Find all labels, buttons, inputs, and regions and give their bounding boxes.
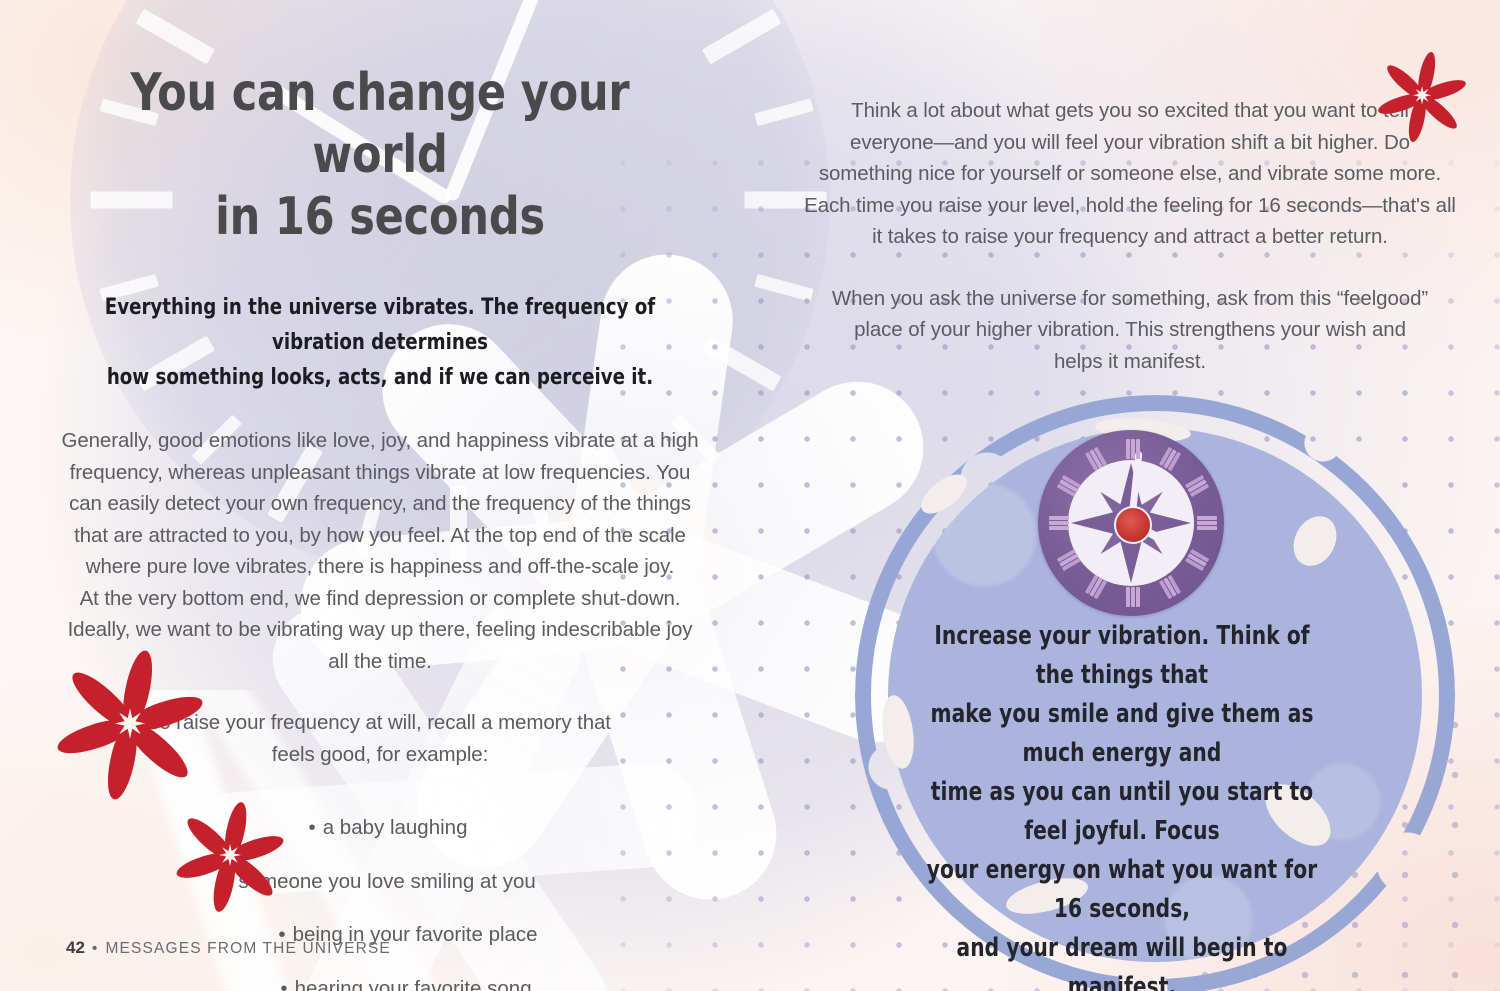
- body-line: place of your higher vibration. This str…: [800, 314, 1460, 346]
- memory-examples-list: •a baby laughing •someone you love smili…: [60, 812, 700, 991]
- body-line: When you ask the universe for something,…: [800, 283, 1460, 315]
- medallion-roman-numeral: [1049, 516, 1069, 520]
- page-number: 42: [66, 938, 85, 957]
- medallion-roman-numeral: [1136, 439, 1140, 459]
- medallion-roman-numeral: [1197, 526, 1217, 530]
- bullet-marker-icon: •: [280, 977, 287, 991]
- list-item: •someone you love smiling at you: [60, 866, 700, 898]
- red-flower-left-large-icon: ✷: [60, 655, 200, 795]
- lead-line-1: Everything in the universe vibrates. The…: [92, 290, 668, 360]
- lead-line-2: how something looks, acts, and if we can…: [92, 360, 668, 395]
- callout-line: Increase your vibration. Think of the th…: [919, 617, 1326, 695]
- watermark-clock-tick: [702, 9, 782, 65]
- list-item-label: someone you love smiling at you: [238, 870, 535, 893]
- body-line: can easily detect your own frequency, an…: [60, 488, 700, 520]
- body-line: Each time you raise your level, hold the…: [800, 190, 1460, 222]
- medallion-roman-numeral: [1197, 521, 1217, 525]
- body-line: At the very bottom end, we find depressi…: [60, 583, 700, 615]
- body-line: it takes to raise your frequency and att…: [800, 221, 1460, 253]
- body-line: Generally, good emotions like love, joy,…: [60, 425, 700, 457]
- right-page-column: Think a lot about what gets you so excit…: [800, 95, 1460, 377]
- list-item-label: a baby laughing: [323, 816, 468, 839]
- book-page-spread: You can change your world in 16 seconds …: [0, 0, 1500, 991]
- body-line: that are attracted to you, by how you fe…: [60, 520, 700, 552]
- body-line: Think a lot about what gets you so excit…: [800, 95, 1460, 127]
- medallion-roman-numeral: [1131, 587, 1135, 607]
- medallion-roman-numeral: [1126, 587, 1130, 607]
- clock-compass-medallion-icon: [1038, 430, 1224, 616]
- body-paragraph: Generally, good emotions like love, joy,…: [60, 425, 700, 677]
- medallion-roman-numeral: [1049, 526, 1069, 530]
- body-line: helps it manifest.: [800, 346, 1460, 378]
- callout-line: your energy on what you want for 16 seco…: [919, 851, 1326, 929]
- flower-star-center-icon: ✷: [1412, 85, 1432, 109]
- page-footer: 42•MESSAGES FROM THE UNIVERSE: [66, 938, 391, 958]
- medallion-roman-numeral: [1197, 516, 1217, 520]
- page-title-line-1: You can change your world: [86, 62, 675, 186]
- body-line: something nice for yourself or someone e…: [800, 158, 1460, 190]
- medallion-roman-numeral: [1136, 587, 1140, 607]
- right-paragraph-1: Think a lot about what gets you so excit…: [800, 95, 1460, 253]
- right-paragraph-2: When you ask the universe for something,…: [800, 283, 1460, 378]
- medallion-roman-numeral: [1049, 521, 1069, 525]
- book-title: MESSAGES FROM THE UNIVERSE: [106, 940, 391, 957]
- list-item-label: hearing your favorite song: [295, 977, 532, 991]
- list-item: •a baby laughing: [60, 812, 700, 844]
- body-line: Ideally, we want to be vibrating way up …: [60, 614, 700, 646]
- callout-line: time as you can until you start to feel …: [919, 773, 1326, 851]
- medallion-hub-icon: [1114, 506, 1152, 544]
- flower-star-center-icon: ✷: [113, 705, 147, 745]
- body-line: everyone—and you will feel your vibratio…: [800, 127, 1460, 159]
- callout-text: Increase your vibration. Think of the th…: [919, 617, 1326, 991]
- callout-line: make you smile and give them as much ene…: [919, 695, 1326, 773]
- watermark-clock-tick: [136, 9, 216, 65]
- footer-separator: •: [92, 940, 99, 957]
- left-page-column: You can change your world in 16 seconds …: [60, 62, 700, 991]
- red-flower-left-small-icon: ✷: [178, 805, 282, 909]
- body-line: frequency, whereas unpleasant things vib…: [60, 457, 700, 489]
- bullet-marker-icon: •: [309, 816, 316, 839]
- page-title-line-2: in 16 seconds: [86, 186, 675, 248]
- list-item: •hearing your favorite song: [60, 973, 700, 991]
- medallion-roman-numeral: [1131, 439, 1135, 459]
- page-title: You can change your world in 16 seconds: [86, 62, 675, 248]
- medallion-roman-numeral: [1126, 439, 1130, 459]
- callout-line: and your dream will begin to manifest.: [919, 929, 1326, 991]
- red-flower-top-right-icon: ✷: [1380, 55, 1464, 139]
- lead-paragraph: Everything in the universe vibrates. The…: [92, 290, 668, 395]
- flower-star-center-icon: ✷: [218, 843, 242, 872]
- body-line: where pure love vibrates, there is happi…: [60, 551, 700, 583]
